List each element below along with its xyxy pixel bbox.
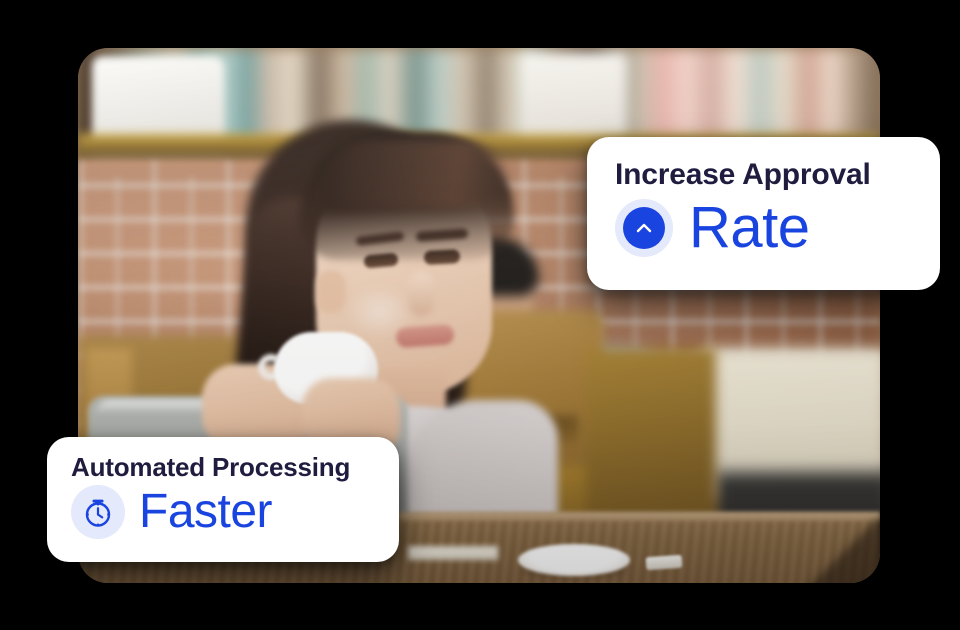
approval-card-value-row: Rate <box>615 197 916 259</box>
napkin <box>408 546 498 560</box>
processing-card-value-row: Faster <box>71 485 377 539</box>
approval-card-title: Increase Approval <box>615 157 916 193</box>
automated-processing-card: Automated Processing Faster <box>47 437 399 562</box>
sugar-packet <box>646 555 683 570</box>
woman-hair-sweep <box>324 140 514 210</box>
chevron-up-icon <box>615 199 673 257</box>
processing-card-value: Faster <box>139 486 272 538</box>
woman-ear <box>316 270 346 314</box>
woman-nose <box>408 272 434 316</box>
saucer <box>518 544 630 576</box>
screenshot-canvas: Increase Approval Rate Automated Process… <box>0 0 960 630</box>
table-corner-shadow <box>718 518 880 583</box>
chevron-up-icon-disc <box>623 207 665 249</box>
stopwatch-icon <box>71 485 125 539</box>
increase-approval-rate-card: Increase Approval Rate <box>587 137 940 290</box>
approval-card-value: Rate <box>689 197 810 259</box>
woman-lips <box>395 324 454 348</box>
processing-card-title: Automated Processing <box>71 451 377 483</box>
